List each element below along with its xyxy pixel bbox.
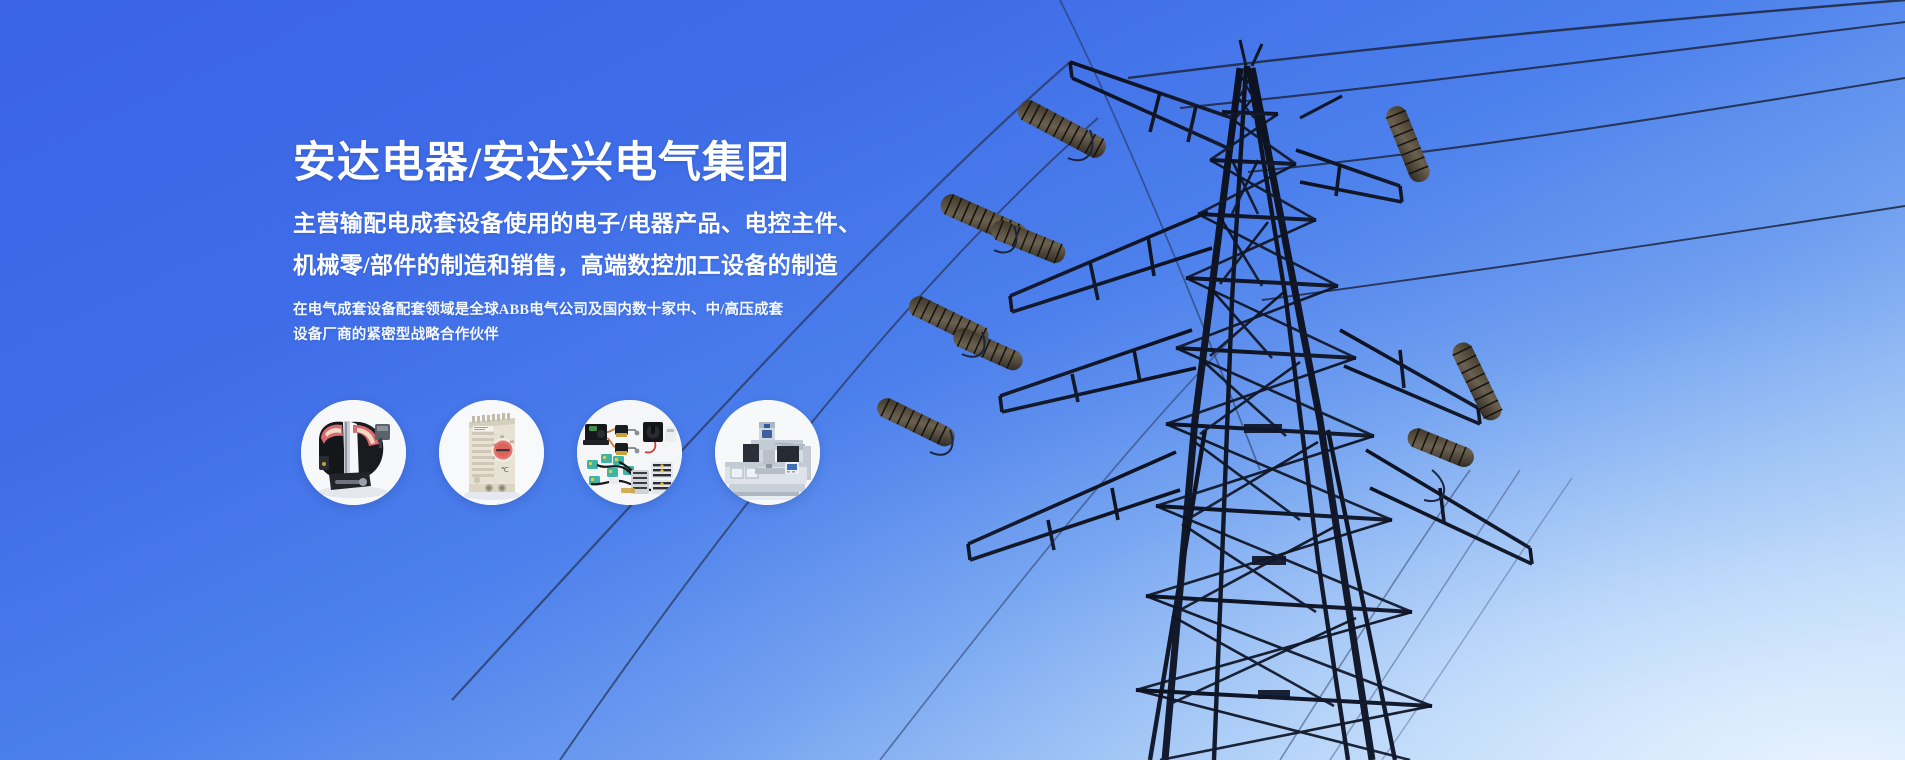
company-title: 安达电器/安达兴电气集团 bbox=[293, 139, 790, 189]
product-thumb-cnc-machining-center[interactable] bbox=[715, 400, 820, 505]
product-thumb-current-transformer-coil[interactable] bbox=[301, 400, 406, 505]
hero-banner: 安达电器/安达兴电气集团 主营输配电成套设备使用的电子/电器产品、电控主件、 机… bbox=[0, 0, 1905, 760]
product-thumb-cabinet-thermostat[interactable]: 2030 600 ℃ bbox=[439, 400, 544, 505]
business-scope-line-1: 主营输配电成套设备使用的电子/电器产品、电控主件、 bbox=[293, 204, 861, 244]
svg-text:0: 0 bbox=[493, 456, 495, 460]
svg-text:60: 60 bbox=[510, 440, 514, 444]
partnership-note-line-1: 在电气成套设备配套领域是全球ABB电气公司及国内数十家中、中/高压成套 bbox=[293, 298, 783, 323]
svg-text:℃: ℃ bbox=[501, 467, 509, 474]
product-thumbnail-row: 2030 600 ℃ bbox=[301, 400, 820, 505]
partnership-note-line-2: 设备厂商的紧密型战略合作伙伴 bbox=[293, 323, 499, 348]
svg-text:30: 30 bbox=[500, 435, 504, 439]
business-scope-line-2: 机械零/部件的制造和销售，高端数控加工设备的制造 bbox=[293, 246, 838, 286]
banner-text-block: 安达电器/安达兴电气集团 主营输配电成套设备使用的电子/电器产品、电控主件、 机… bbox=[0, 0, 900, 760]
svg-text:20: 20 bbox=[492, 443, 496, 447]
product-thumb-electrical-control-parts[interactable] bbox=[577, 400, 682, 505]
